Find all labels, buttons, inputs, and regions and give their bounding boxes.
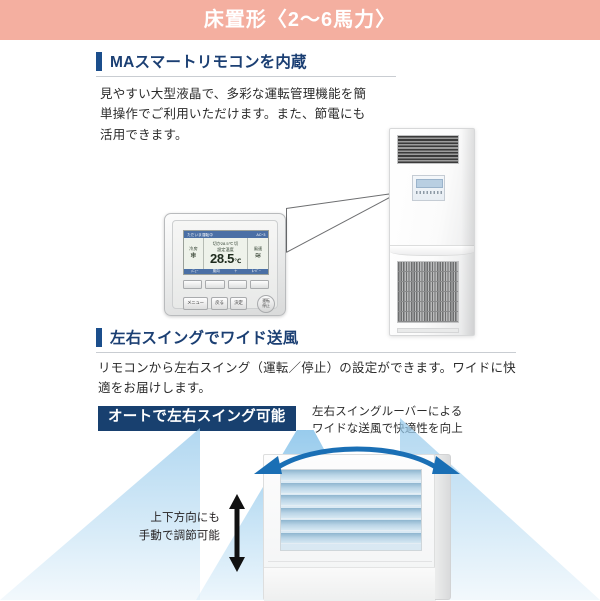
lcd-fn-1: ﾒﾆｭｰ: [191, 270, 198, 274]
lcd-status-bar: ただいま運転中 ACｰ3: [184, 231, 268, 238]
lcd-status-right: ACｰ3: [257, 233, 266, 237]
louver-slat: [281, 483, 421, 494]
soft-key-3[interactable]: [228, 280, 247, 289]
lcd-fan-column: 風速 ≋: [247, 238, 268, 269]
unit-panel-display: [416, 179, 443, 188]
section2-body-text: リモコンから左右スイング（運転／停止）の設定ができます。ワイドに快適をお届けしま…: [98, 358, 518, 399]
remote-control-row: メニュー 戻る 決定 運転 停止: [183, 295, 283, 312]
section1-body-text: 見やすい大型液晶で、多彩な運転管理機能を簡単操作でご利用いただけます。また、節電…: [100, 84, 376, 145]
ok-button[interactable]: 決定: [230, 297, 247, 310]
lcd-temperature-value: 28.5℃: [210, 252, 241, 265]
lcd-fn-2: 風向: [213, 270, 220, 274]
power-button-line2: 停止: [262, 304, 270, 309]
leader-line-vertical: [286, 208, 287, 252]
lcd-main-area: 冷房 ❄ 切か28.5℃ 切 設定温度 28.5℃ 風速 ≋: [184, 238, 268, 269]
ac-unit-base-panel: [264, 567, 436, 601]
lcd-fn-4: ﾙｰﾊﾞｰ: [252, 270, 261, 274]
swing-louver-note-line2: ワイドな送風で快適性を向上: [312, 421, 463, 438]
unit-panel-buttons: [416, 191, 443, 194]
section1-divider: [96, 76, 396, 77]
lcd-fn-3: ＋: [234, 270, 238, 274]
section2-heading-text: 左右スイングでワイド送風: [110, 326, 298, 348]
louver-slat: [281, 508, 421, 519]
section2-divider: [96, 352, 516, 353]
unit-air-outlet-grille: [397, 135, 459, 164]
lcd-function-bar: ﾒﾆｭｰ 風向 ＋ ﾙｰﾊﾞｰ: [184, 269, 268, 275]
unit-air-intake-grille: [397, 261, 459, 323]
section-wide-swing-airflow: 左右スイングでワイド送風 リモコンから左右スイング（運転／停止）の設定ができます…: [0, 318, 600, 600]
lcd-status-left: ただいま運転中: [187, 233, 213, 237]
remote-soft-key-row: [183, 280, 269, 289]
swing-louver-grille: [280, 469, 422, 551]
floor-standing-ac-unit-photo: [389, 128, 475, 336]
lcd-temperature-area: 切か28.5℃ 切 設定温度 28.5℃: [204, 238, 247, 269]
swing-louver-note: 左右スイングルーバーによる ワイドな送風で快適性を向上: [312, 404, 463, 439]
power-onoff-button[interactable]: 運転 停止: [257, 295, 275, 313]
manual-updown-note-line1: 上下方向にも: [124, 510, 220, 528]
lcd-temp-unit: ℃: [234, 259, 241, 265]
section1-accent-bar: [96, 52, 102, 71]
remote-lcd-display: ただいま運転中 ACｰ3 冷房 ❄ 切か28.5℃ 切 設定温度 28.5℃: [183, 230, 269, 275]
section2-accent-bar: [96, 328, 102, 347]
section1-heading: MAスマートリモコンを内蔵: [96, 50, 307, 72]
louver-slat: [281, 495, 421, 506]
auto-swing-badge: オートで左右スイング可能: [98, 406, 296, 431]
snowflake-icon: ❄: [190, 252, 197, 260]
unit-control-panel: [412, 175, 445, 201]
fan-speed-icon: ≋: [255, 252, 262, 260]
page-banner: 床置形〈2～6馬力〉: [0, 0, 600, 40]
section-ma-smart-remote: MAスマートリモコンを内蔵 見やすい大型液晶で、多彩な運転管理機能を簡単操作でご…: [0, 40, 600, 320]
section1-heading-text: MAスマートリモコンを内蔵: [110, 50, 307, 72]
lcd-mode-column: 冷房 ❄: [184, 238, 204, 269]
leader-line-lower: [286, 195, 394, 253]
soft-key-4[interactable]: [250, 280, 269, 289]
menu-button[interactable]: メニュー: [183, 297, 208, 310]
louver-slat: [281, 520, 421, 531]
louver-slat: [281, 533, 421, 544]
back-button[interactable]: 戻る: [211, 297, 228, 310]
manual-updown-note-line2: 手動で調節可能: [124, 528, 220, 546]
soft-key-1[interactable]: [183, 280, 202, 289]
swing-arrow-icon: [252, 440, 462, 476]
swing-louver-note-line1: 左右スイングルーバーによる: [312, 404, 463, 421]
lcd-temp-number: 28.5: [210, 251, 234, 266]
section2-heading: 左右スイングでワイド送風: [96, 326, 298, 348]
remote-faceplate: ただいま運転中 ACｰ3 冷房 ❄ 切か28.5℃ 切 設定温度 28.5℃: [172, 220, 278, 309]
page-title: 床置形〈2～6馬力〉: [204, 10, 396, 30]
ac-unit-seam-line: [268, 561, 432, 562]
unit-side-shading: [461, 129, 474, 335]
soft-key-2[interactable]: [205, 280, 224, 289]
manual-updown-note: 上下方向にも 手動で調節可能: [124, 510, 220, 546]
vertical-adjust-arrow-icon: [228, 494, 246, 572]
ma-smart-remote-controller[interactable]: ただいま運転中 ACｰ3 冷房 ❄ 切か28.5℃ 切 設定温度 28.5℃: [164, 213, 286, 316]
leader-line-upper: [286, 192, 403, 209]
